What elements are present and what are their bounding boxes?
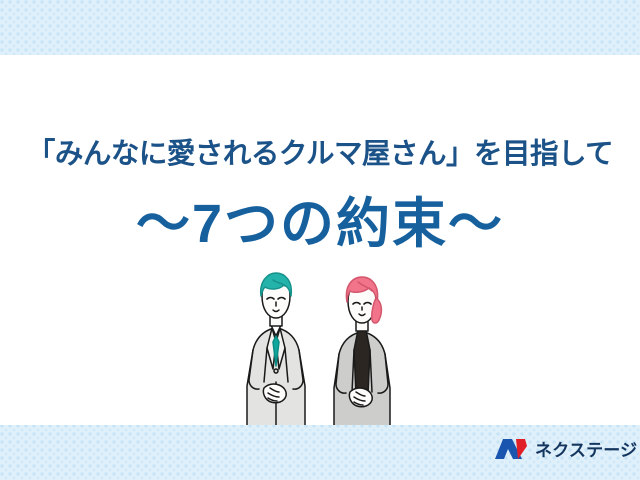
two-staff-bowing-illustration	[232, 270, 424, 425]
page-subtitle: 〜7つの約束〜	[0, 179, 640, 258]
white-content-panel: 「みんなに愛されるクルマ屋さん」を目指して 〜7つの約束〜	[0, 55, 640, 425]
brand-logo: ネクステージ	[494, 436, 637, 461]
brand-logo-text: ネクステージ	[535, 436, 637, 461]
slide-canvas: 「みんなに愛されるクルマ屋さん」を目指して 〜7つの約束〜 ネクステージ	[0, 0, 640, 480]
nexstage-n-logo-icon	[494, 437, 528, 461]
page-headline: 「みんなに愛されるクルマ屋さん」を目指して	[0, 131, 640, 172]
